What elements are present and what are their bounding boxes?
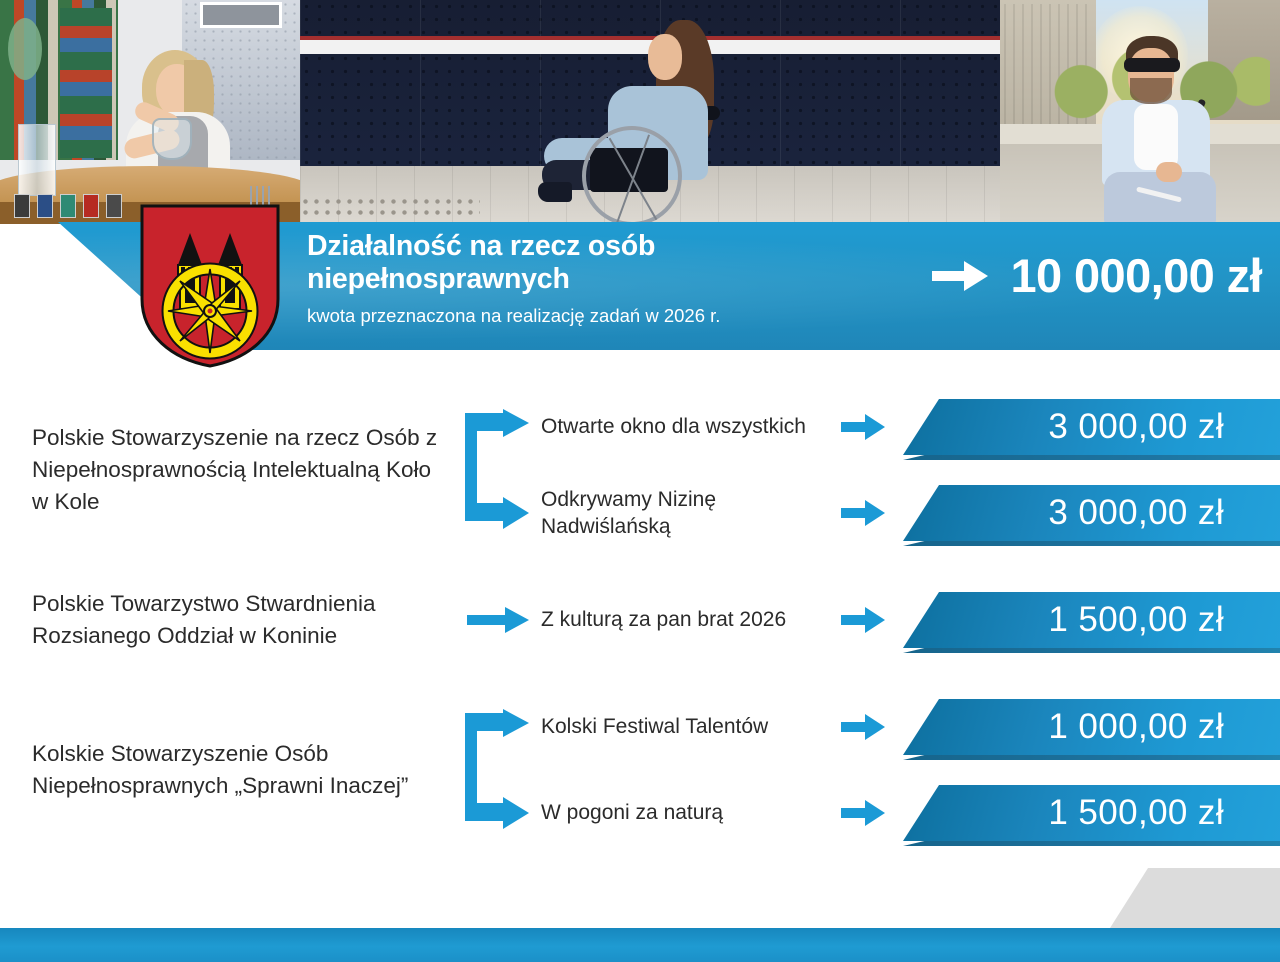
header-text-block: Działalność na rzecz osób niepełnosprawn…	[307, 230, 867, 328]
project-item: Odkrywamy Nizinę Nadwiślańską 3 000,00 z…	[541, 470, 1280, 556]
project-name: W pogoni za naturą	[541, 799, 841, 826]
branch-two-arrows-icon	[455, 709, 541, 831]
page-title: Działalność na rzecz osób niepełnosprawn…	[307, 230, 867, 296]
amount-banner: 1 500,00 zł	[903, 785, 1280, 841]
arrow-right-icon	[841, 799, 903, 827]
amount-value: 1 000,00 zł	[903, 699, 1224, 755]
amount-value: 3 000,00 zł	[903, 399, 1224, 455]
amount-value: 1 500,00 zł	[903, 785, 1224, 841]
infographic-page: Działalność na rzecz osób niepełnosprawn…	[0, 0, 1280, 962]
arrow-right-icon	[841, 606, 903, 634]
project-name: Z kulturą za pan brat 2026	[541, 606, 841, 633]
grant-row: Kolskie Stowarzyszenie Osób Niepełnospra…	[0, 690, 1280, 850]
arrow-right-icon	[455, 606, 541, 634]
amount-banner: 1 000,00 zł	[903, 699, 1280, 755]
grant-row: Polskie Towarzystwo Stwardnienia Rozsian…	[0, 550, 1280, 690]
arrow-right-icon	[932, 259, 988, 293]
total-amount-block: 10 000,00 zł	[932, 248, 1262, 303]
grant-row: Polskie Stowarzyszenie na rzecz Osób z N…	[0, 390, 1280, 550]
amount-banner: 3 000,00 zł	[903, 485, 1280, 541]
corner-accent-shape	[1110, 868, 1280, 928]
total-amount-value: 10 000,00 zł	[1010, 248, 1262, 303]
organization-name: Polskie Towarzystwo Stwardnienia Rozsian…	[0, 588, 455, 652]
page-title-line1: Działalność na rzecz osób	[307, 230, 867, 263]
project-item: W pogoni za naturą 1 500,00 zł	[541, 770, 1280, 856]
project-name: Otwarte okno dla wszystkich	[541, 413, 841, 440]
amount-banner: 1 500,00 zł	[903, 592, 1280, 648]
grants-list: Polskie Stowarzyszenie na rzecz Osób z N…	[0, 390, 1280, 850]
arrow-right-icon	[841, 713, 903, 741]
organization-name: Polskie Stowarzyszenie na rzecz Osób z N…	[0, 422, 455, 518]
arrow-right-icon	[841, 413, 903, 441]
amount-banner: 3 000,00 zł	[903, 399, 1280, 455]
bottom-bar	[0, 928, 1280, 962]
amount-value: 1 500,00 zł	[903, 592, 1224, 648]
amount-value: 3 000,00 zł	[903, 485, 1224, 541]
page-subtitle: kwota przeznaczona na realizację zadań w…	[307, 304, 867, 328]
photo-craft-workshop-woman	[0, 0, 300, 224]
project-name: Odkrywamy Nizinę Nadwiślańską	[541, 486, 841, 541]
branch-two-arrows-icon	[455, 409, 541, 531]
kolo-coat-of-arms-icon	[138, 203, 282, 369]
photo-banner	[0, 0, 1280, 224]
projects-group: Z kulturą za pan brat 2026 1 500,00 zł	[541, 577, 1280, 663]
project-item: Otwarte okno dla wszystkich 3 000,00 zł	[541, 384, 1280, 470]
projects-group: Kolski Festiwal Talentów 1 000,00 zł W p…	[541, 684, 1280, 856]
project-item: Z kulturą za pan brat 2026 1 500,00 zł	[541, 577, 1280, 663]
projects-group: Otwarte okno dla wszystkich 3 000,00 zł …	[541, 384, 1280, 556]
photo-woman-in-wheelchair	[300, 0, 1000, 224]
organization-name: Kolskie Stowarzyszenie Osób Niepełnospra…	[0, 738, 455, 802]
photo-man-with-white-cane	[1000, 0, 1280, 224]
project-name: Kolski Festiwal Talentów	[541, 713, 841, 740]
project-item: Kolski Festiwal Talentów 1 000,00 zł	[541, 684, 1280, 770]
page-title-line2: niepełnosprawnych	[307, 263, 867, 296]
arrow-right-icon	[841, 499, 903, 527]
